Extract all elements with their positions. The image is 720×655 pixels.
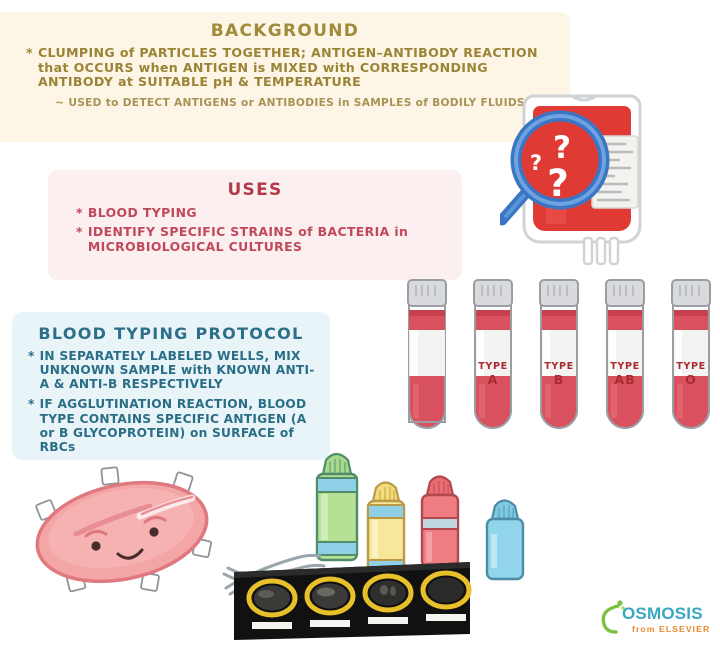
- blood-bag-ports: [584, 238, 618, 264]
- test-tube-label-top: TYPE: [676, 361, 705, 372]
- subnote-tilde-icon: ~: [55, 97, 64, 109]
- tube-cap: [672, 280, 710, 306]
- uses-body: * BLOOD TYPING * IDENTIFY SPECIFIC STRAI…: [48, 206, 462, 254]
- bottle-nozzle: [427, 477, 453, 496]
- leaf-arc-icon: [603, 606, 618, 632]
- question-mark-icon: ?: [530, 151, 542, 175]
- well-sample-highlight: [390, 586, 396, 596]
- background-title: BACKGROUND: [0, 21, 570, 41]
- bottle-nozzle: [323, 454, 351, 474]
- test-tube[interactable]: TYPE A: [470, 276, 516, 446]
- osmosis-logo: OSMOSIS from ELSEVIER: [598, 598, 714, 646]
- bullet-star-icon: *: [28, 397, 35, 411]
- bottle-highlight: [491, 534, 497, 568]
- bottle-highlight: [321, 494, 328, 540]
- well-sample-highlight: [317, 588, 335, 597]
- protocol-bullet-text: IN SEPARATELY LABELED WELLS, MIX UNKNOWN…: [40, 349, 322, 391]
- tube-cap: [408, 280, 446, 306]
- test-tube-label-type: B: [536, 373, 582, 387]
- protocol-body: * IN SEPARATELY LABELED WELLS, MIX UNKNO…: [12, 349, 330, 454]
- logo-tagline: from ELSEVIER: [632, 624, 710, 634]
- test-tube[interactable]: TYPE B: [536, 276, 582, 446]
- logo-brand: OSMOSIS: [622, 604, 703, 624]
- background-info-panel: BACKGROUND * CLUMPING of PARTICLES TOGET…: [0, 12, 570, 142]
- uses-title: USES: [48, 180, 462, 200]
- rbc-left-eye: [91, 541, 100, 550]
- background-bullet: * CLUMPING of PARTICLES TOGETHER; ANTIGE…: [26, 46, 554, 90]
- bottle-nozzle: [373, 483, 399, 502]
- illustration-canvas: BACKGROUND * CLUMPING of PARTICLES TOGET…: [0, 0, 720, 655]
- tube-cap: [474, 280, 512, 306]
- uses-bullet: * IDENTIFY SPECIFIC STRAINS of BACTERIA …: [76, 225, 448, 254]
- background-subnote-text: USED to DETECT ANTIGENS or ANTIBODIES in…: [68, 97, 525, 109]
- red-blood-cell-illustration: [14, 458, 229, 598]
- test-tube-rack: TYPE A TYPE: [404, 276, 716, 446]
- bottle-nozzle: [492, 501, 518, 520]
- protocol-info-panel: BLOOD TYPING PROTOCOL * IN SEPARATELY LA…: [12, 312, 330, 460]
- test-tube-label: TYPE A: [470, 362, 516, 387]
- tube-cap: [606, 280, 644, 306]
- question-mark-icon: ?: [547, 162, 568, 205]
- antigen-marker-icon: [101, 467, 119, 485]
- bottle-neck-band: [368, 505, 404, 518]
- protocol-title: BLOOD TYPING PROTOCOL: [12, 324, 330, 343]
- uses-info-panel: USES * BLOOD TYPING * IDENTIFY SPECIFIC …: [48, 170, 462, 280]
- well-sample: [370, 581, 406, 606]
- protocol-bullet: * IF AGGLUTINATION REACTION, BLOOD TYPE …: [28, 397, 322, 454]
- background-subnote: ~ USED to DETECT ANTIGENS or ANTIBODIES …: [26, 97, 554, 109]
- bullet-star-icon: *: [76, 206, 83, 220]
- bottle-mid-band: [422, 518, 458, 529]
- bullet-star-icon: *: [76, 225, 83, 239]
- tube-cap: [540, 280, 578, 306]
- background-body: * CLUMPING of PARTICLES TOGETHER; ANTIGE…: [0, 46, 570, 109]
- test-tube-label: TYPE O: [668, 362, 714, 387]
- test-tube-label-top: TYPE: [610, 361, 639, 372]
- test-tube-label-type: A: [470, 373, 516, 387]
- protocol-bullet: * IN SEPARATELY LABELED WELLS, MIX UNKNO…: [28, 349, 322, 391]
- test-tube-label: TYPE B: [536, 362, 582, 387]
- uses-bullet-text: IDENTIFY SPECIFIC STRAINS of BACTERIA in…: [88, 225, 448, 254]
- protocol-bullet-text: IF AGGLUTINATION REACTION, BLOOD TYPE CO…: [40, 397, 322, 454]
- blue-dropper-bottle[interactable]: [487, 501, 523, 580]
- well-label-strip: [426, 614, 466, 621]
- test-tube[interactable]: TYPE AB: [602, 276, 648, 446]
- rbc-right-eye: [149, 527, 158, 536]
- blood-bag-illustration: ? ? ?: [500, 88, 670, 268]
- test-tube-label: TYPE AB: [602, 362, 648, 387]
- test-tube-label-type: O: [668, 373, 714, 387]
- test-tube[interactable]: [404, 276, 450, 446]
- bullet-star-icon: *: [26, 46, 33, 61]
- well-label-strip: [310, 620, 350, 627]
- test-tube-label-top: TYPE: [544, 361, 573, 372]
- background-bullet-text: CLUMPING of PARTICLES TOGETHER; ANTIGEN–…: [38, 46, 554, 90]
- well-sample-highlight: [258, 590, 274, 598]
- uses-bullet: * BLOOD TYPING: [76, 206, 448, 220]
- blood-typing-card-illustration: [212, 538, 472, 648]
- test-tube-label-type: AB: [602, 373, 648, 387]
- bullet-star-icon: *: [28, 349, 35, 363]
- well-label-strip: [252, 622, 292, 629]
- well-sample-highlight: [380, 585, 388, 595]
- well-sample: [428, 578, 464, 603]
- uses-bullet-text: BLOOD TYPING: [88, 206, 197, 220]
- well-label-strip: [368, 617, 408, 624]
- question-mark-icon: ?: [553, 130, 571, 166]
- well-sample: [254, 586, 290, 611]
- bottle-neck-band: [317, 478, 357, 492]
- test-tube[interactable]: TYPE O: [668, 276, 714, 446]
- test-tube-label-top: TYPE: [478, 361, 507, 372]
